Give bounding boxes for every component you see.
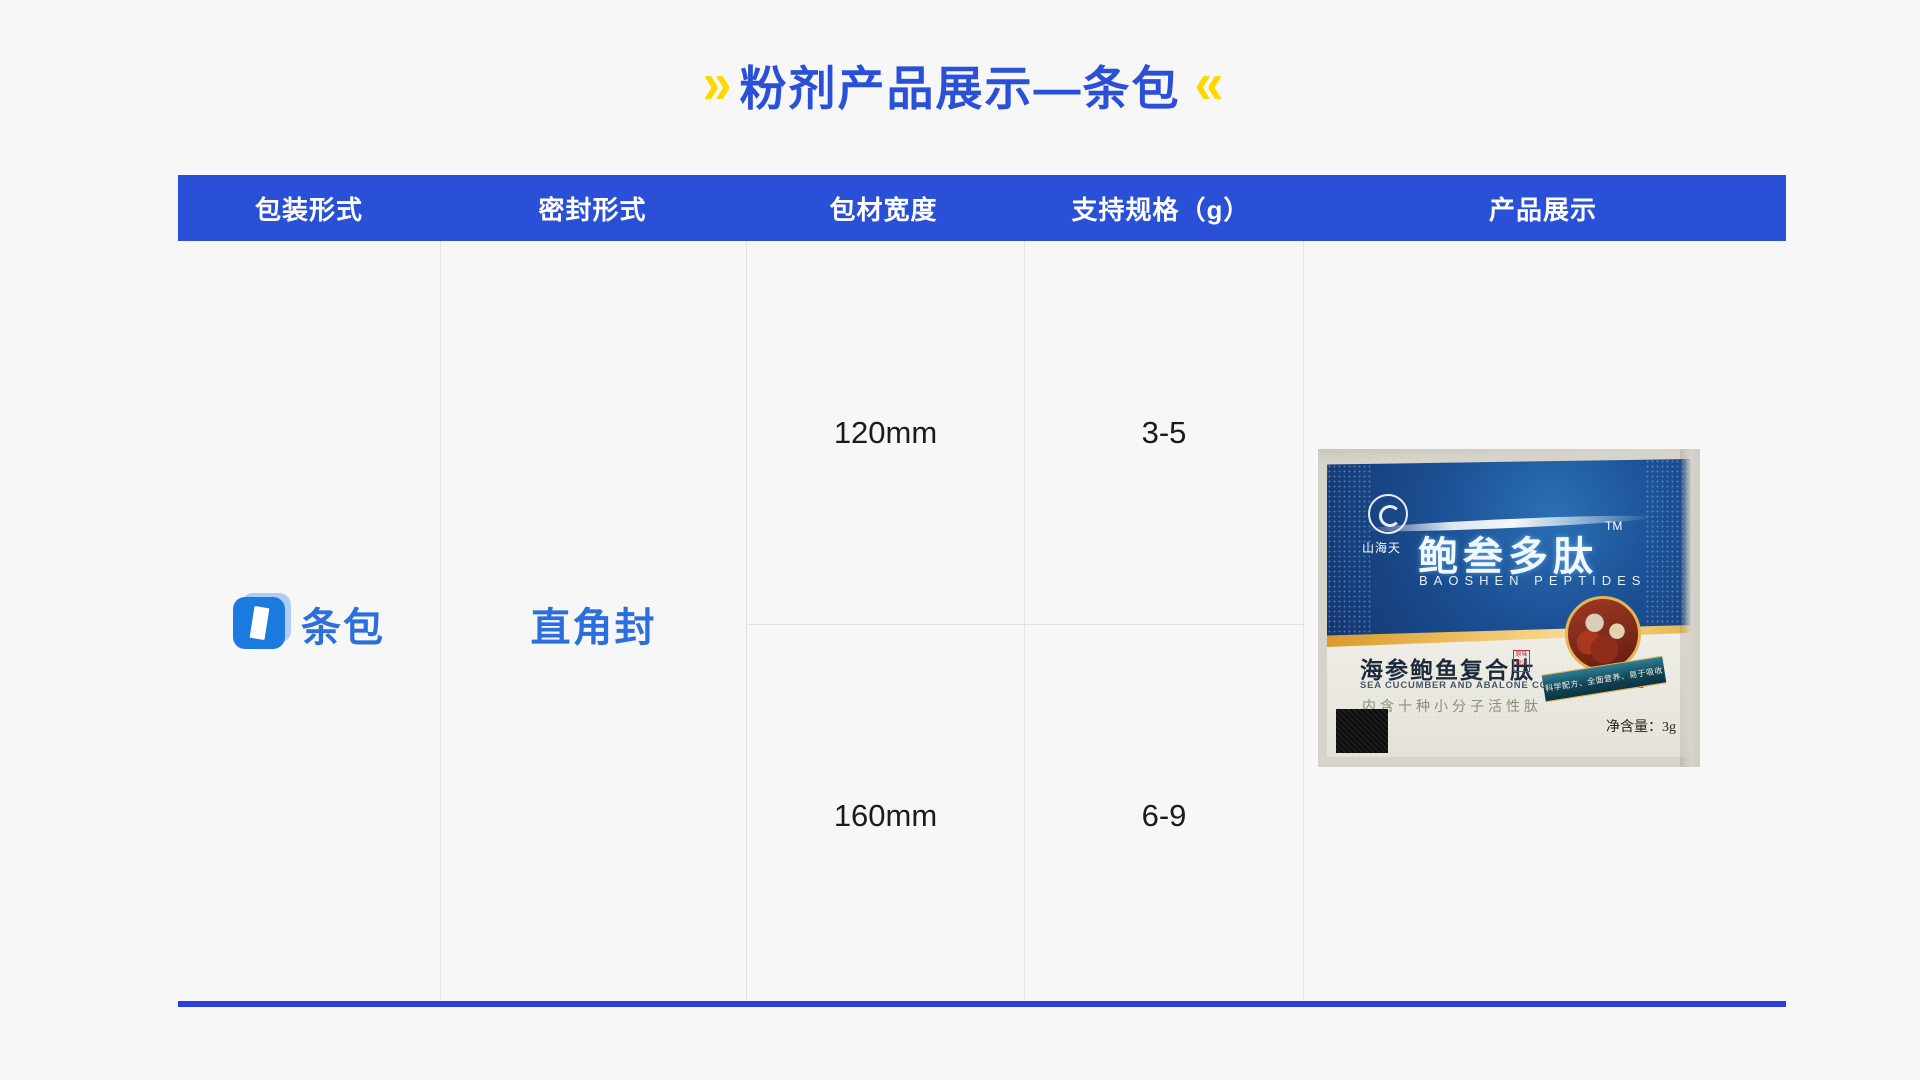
photo-black-patch bbox=[1336, 709, 1388, 753]
table-header-product-display: 产品展示 bbox=[1300, 190, 1786, 227]
page-title-bar: » 粉剂产品展示—条包 « bbox=[0, 48, 1920, 120]
trademark-mark: TM bbox=[1605, 519, 1622, 533]
product-photo: 山海天 鲍叁多肽 TM BAOSHEN PEPTIDES 海参鲍鱼复合肽 原味原… bbox=[1318, 449, 1700, 767]
product-stamp: 原味原汁 bbox=[1513, 650, 1530, 672]
cell-material-width-row1: 120mm bbox=[747, 241, 1024, 624]
spec-table: 包装形式 密封形式 包材宽度 支持规格（g） 产品展示 条包 直角封 120mm… bbox=[178, 175, 1786, 1007]
chevron-right-double-icon: » bbox=[703, 55, 726, 113]
cell-packaging-form: 条包 bbox=[178, 241, 440, 1007]
table-body: 条包 直角封 120mm 3-5 160mm 6-9 山海天 鲍叁多肽 bbox=[178, 241, 1786, 1007]
seal-form-label: 直角封 bbox=[531, 595, 657, 653]
table-header-material-width: 包材宽度 bbox=[745, 190, 1022, 227]
table-header-row: 包装形式 密封形式 包材宽度 支持规格（g） 产品展示 bbox=[178, 175, 1786, 241]
brand-logo-text: 山海天 bbox=[1362, 539, 1401, 556]
product-subtitle: 内含十种小分子活性肽 bbox=[1362, 696, 1542, 716]
cell-product-display: 山海天 鲍叁多肽 TM BAOSHEN PEPTIDES 海参鲍鱼复合肽 原味原… bbox=[1304, 241, 1786, 1007]
packaging-form-label: 条包 bbox=[301, 595, 385, 653]
chevron-left-double-icon: « bbox=[1195, 55, 1218, 113]
stick-pack-icon bbox=[233, 597, 287, 651]
table-header-packaging-form: 包装形式 bbox=[178, 190, 440, 227]
cell-supported-spec-row2: 6-9 bbox=[1025, 625, 1303, 1007]
product-pinyin: BAOSHEN PEPTIDES bbox=[1419, 573, 1646, 588]
table-header-seal-form: 密封形式 bbox=[440, 190, 745, 227]
table-header-supported-spec: 支持规格（g） bbox=[1022, 190, 1300, 227]
product-net-weight: 净含量：3g bbox=[1606, 716, 1676, 736]
table-bottom-rule bbox=[178, 1001, 1786, 1007]
cell-supported-spec-row1: 3-5 bbox=[1025, 241, 1303, 624]
brand-spiral-logo-icon bbox=[1368, 494, 1408, 534]
page-title: 粉剂产品展示—条包 bbox=[740, 50, 1181, 119]
cell-material-width-row2: 160mm bbox=[747, 625, 1024, 1007]
cell-seal-form: 直角封 bbox=[441, 241, 746, 1007]
